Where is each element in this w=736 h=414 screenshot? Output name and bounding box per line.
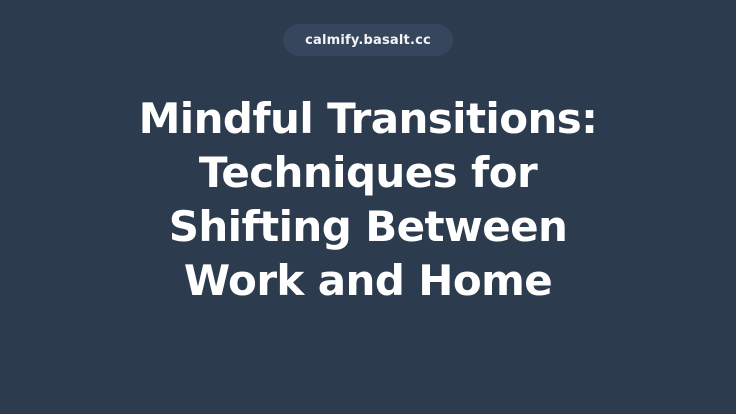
social-preview-card: calmify.basalt.cc Mindful Transitions: T… (0, 0, 736, 414)
site-domain-badge: calmify.basalt.cc (283, 24, 453, 56)
page-title-line: Shifting Between (24, 200, 712, 254)
page-title-line: Techniques for (24, 146, 712, 200)
site-domain-label: calmify.basalt.cc (305, 34, 431, 47)
page-title-line: Work and Home (24, 254, 712, 308)
page-title: Mindful Transitions: Techniques for Shif… (0, 92, 736, 308)
page-title-line: Mindful Transitions: (24, 92, 712, 146)
